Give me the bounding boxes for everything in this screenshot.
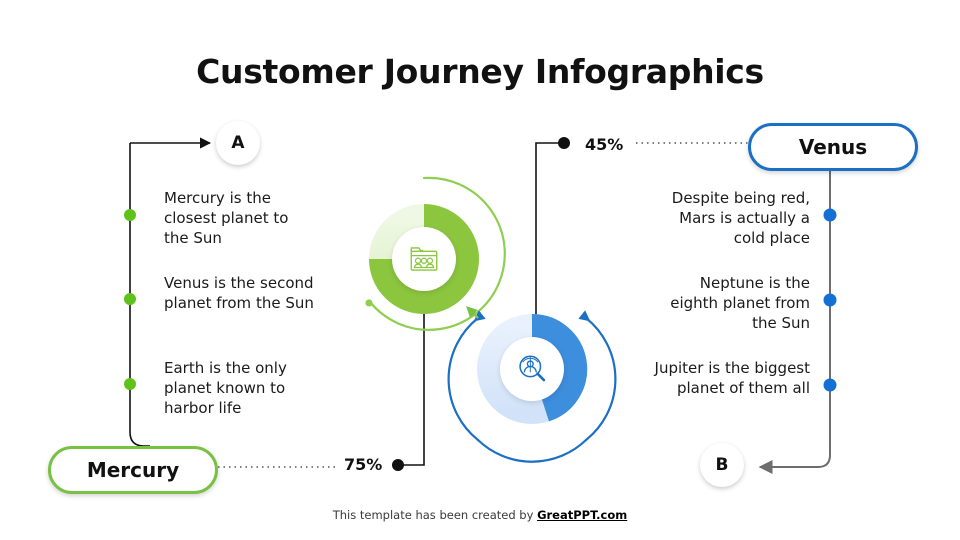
pct-45-node: [558, 137, 570, 149]
left-list-item-3: Earth is the only planet known to harbor…: [164, 358, 314, 418]
pill-venus-label: Venus: [799, 135, 867, 159]
blue-outer-arc-bottom: [478, 440, 586, 462]
pct-45-connector: [536, 143, 564, 338]
left-bullet-dot-3: [124, 378, 136, 390]
pill-mercury[interactable]: Mercury: [48, 446, 218, 494]
green-outer-arc-endpoint: [365, 299, 372, 306]
badge-b[interactable]: B: [700, 443, 744, 487]
blue-outer-arc-right: [586, 318, 615, 440]
left-vertical-spine: [130, 143, 150, 446]
badge-a-label: A: [231, 133, 244, 153]
badge-b-label: B: [716, 455, 729, 475]
magnifier-person-icon: [515, 352, 549, 386]
footer-prefix: This template has been created by: [333, 508, 537, 522]
left-bullet-dot-2: [124, 293, 136, 305]
right-list-item-2: Neptune is the eighth planet from the Su…: [650, 273, 810, 333]
left-list-item-2: Venus is the second planet from the Sun: [164, 273, 314, 313]
badge-a[interactable]: A: [216, 121, 260, 165]
left-list-item-1: Mercury is the closest planet to the Sun: [164, 188, 314, 248]
footer-credit: This template has been created by GreatP…: [0, 508, 960, 522]
pill-mercury-label: Mercury: [87, 458, 179, 482]
right-list-item-3: Jupiter is the biggest planet of them al…: [650, 358, 810, 398]
green-accent-arrow: [470, 310, 478, 318]
right-bullet-dot-1: [824, 209, 837, 222]
percent-label-left: 75%: [344, 455, 382, 474]
pct-75-node: [392, 459, 404, 471]
pct-75-connector: [398, 292, 424, 465]
folder-team-icon: [407, 242, 441, 276]
page-title: Customer Journey Infographics: [0, 52, 960, 91]
left-bullet-dot-1: [124, 209, 136, 221]
right-bullet-dot-3: [824, 379, 837, 392]
pill-venus[interactable]: Venus: [748, 123, 918, 171]
blue-outer-arc-left: [449, 318, 478, 440]
blue-ring-icon-core: [500, 337, 564, 401]
footer-brand-link[interactable]: GreatPPT.com: [537, 508, 627, 522]
right-bullet-dot-2: [824, 294, 837, 307]
green-ring-icon-core: [392, 227, 456, 291]
right-list-item-1: Despite being red, Mars is actually a co…: [650, 188, 810, 248]
percent-label-right: 45%: [585, 135, 623, 154]
